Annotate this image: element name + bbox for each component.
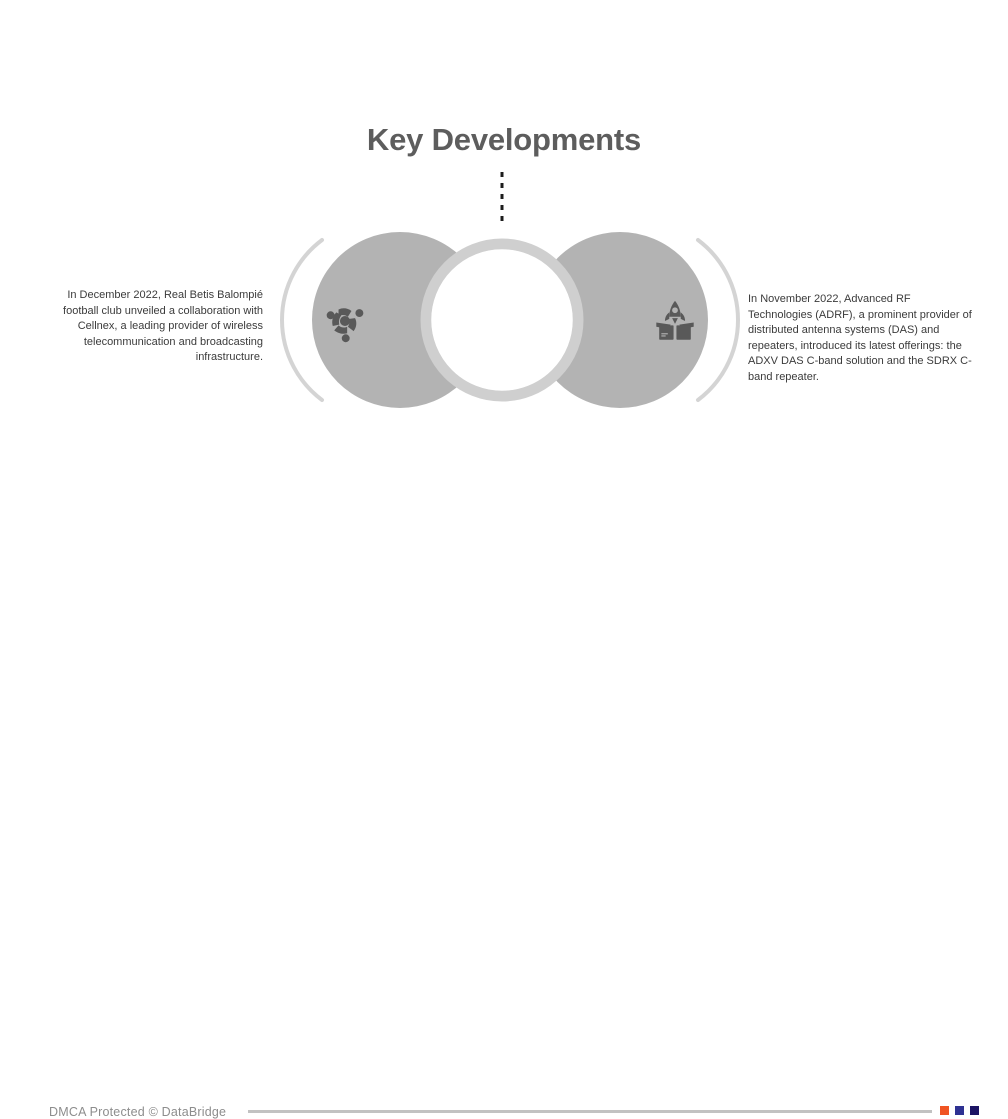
network-collaboration-icon bbox=[322, 298, 368, 344]
rocket-launch-box-icon bbox=[652, 298, 698, 344]
left-outer-arc bbox=[282, 240, 322, 400]
footer: DMCA Protected © DataBridge bbox=[0, 540, 1008, 600]
orange-square bbox=[940, 1106, 949, 1115]
footer-logo-dots bbox=[940, 1106, 979, 1115]
center-ring-inner-highlight bbox=[433, 251, 572, 390]
footer-copyright: DMCA Protected © DataBridge bbox=[49, 1105, 226, 1119]
center-ring-fill bbox=[430, 248, 574, 392]
page-title: Key Developments bbox=[0, 122, 1008, 158]
left-development-text: In December 2022, Real Betis Balompié fo… bbox=[32, 288, 263, 366]
footer-divider bbox=[248, 1110, 932, 1113]
navy-square bbox=[970, 1106, 979, 1115]
slide-canvas: Key Developments bbox=[0, 0, 1008, 600]
right-outer-arc bbox=[698, 240, 738, 400]
center-ring-outer bbox=[426, 244, 578, 396]
right-development-text: In November 2022, Advanced RF Technologi… bbox=[748, 292, 976, 386]
blue-square bbox=[955, 1106, 964, 1115]
